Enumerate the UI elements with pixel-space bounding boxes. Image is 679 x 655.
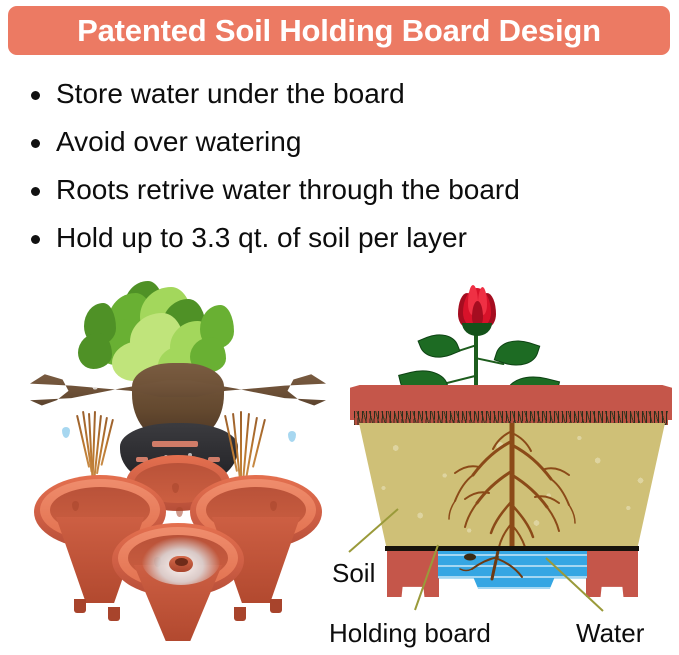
bullet-dot-icon: [31, 91, 40, 100]
page-title: Patented Soil Holding Board Design: [8, 13, 670, 49]
feature-bullet-list: Store water under the board Avoid over w…: [26, 70, 666, 262]
callout-label-soil: Soil: [332, 558, 375, 589]
water-droplet-icon: [62, 427, 70, 438]
rose-leaf: [494, 334, 541, 373]
bullet-item: Avoid over watering: [26, 118, 666, 166]
rose-sepal: [462, 323, 492, 336]
roots-in-water: [438, 551, 587, 589]
bullet-text: Avoid over watering: [56, 126, 301, 157]
pot-base-left: [387, 551, 439, 597]
bullet-dot-icon: [31, 235, 40, 244]
three-lobe-planter: [30, 461, 326, 641]
bullet-dot-icon: [31, 139, 40, 148]
root-system: [359, 423, 665, 551]
water-droplet-icon: [288, 431, 296, 442]
callout-label-water: Water: [576, 618, 644, 649]
bullet-text: Store water under the board: [56, 78, 405, 109]
bullet-item: Roots retrive water through the board: [26, 166, 666, 214]
header-banner: Patented Soil Holding Board Design: [8, 6, 670, 55]
pot-base-right: [586, 551, 638, 597]
bullet-item: Hold up to 3.3 qt. of soil per layer: [26, 214, 666, 262]
bullet-text: Roots retrive water through the board: [56, 174, 520, 205]
infographic-page: Patented Soil Holding Board Design Store…: [0, 0, 679, 655]
pot-cross-section-diagram: [345, 265, 679, 655]
stacking-planter-product-photo: [12, 275, 342, 645]
bullet-text: Hold up to 3.3 qt. of soil per layer: [56, 222, 467, 253]
figures-area: [0, 265, 679, 655]
drainage-hole: [175, 558, 188, 566]
callout-label-holding-board: Holding board: [329, 618, 491, 649]
bullet-dot-icon: [31, 187, 40, 196]
bullet-item: Store water under the board: [26, 70, 666, 118]
